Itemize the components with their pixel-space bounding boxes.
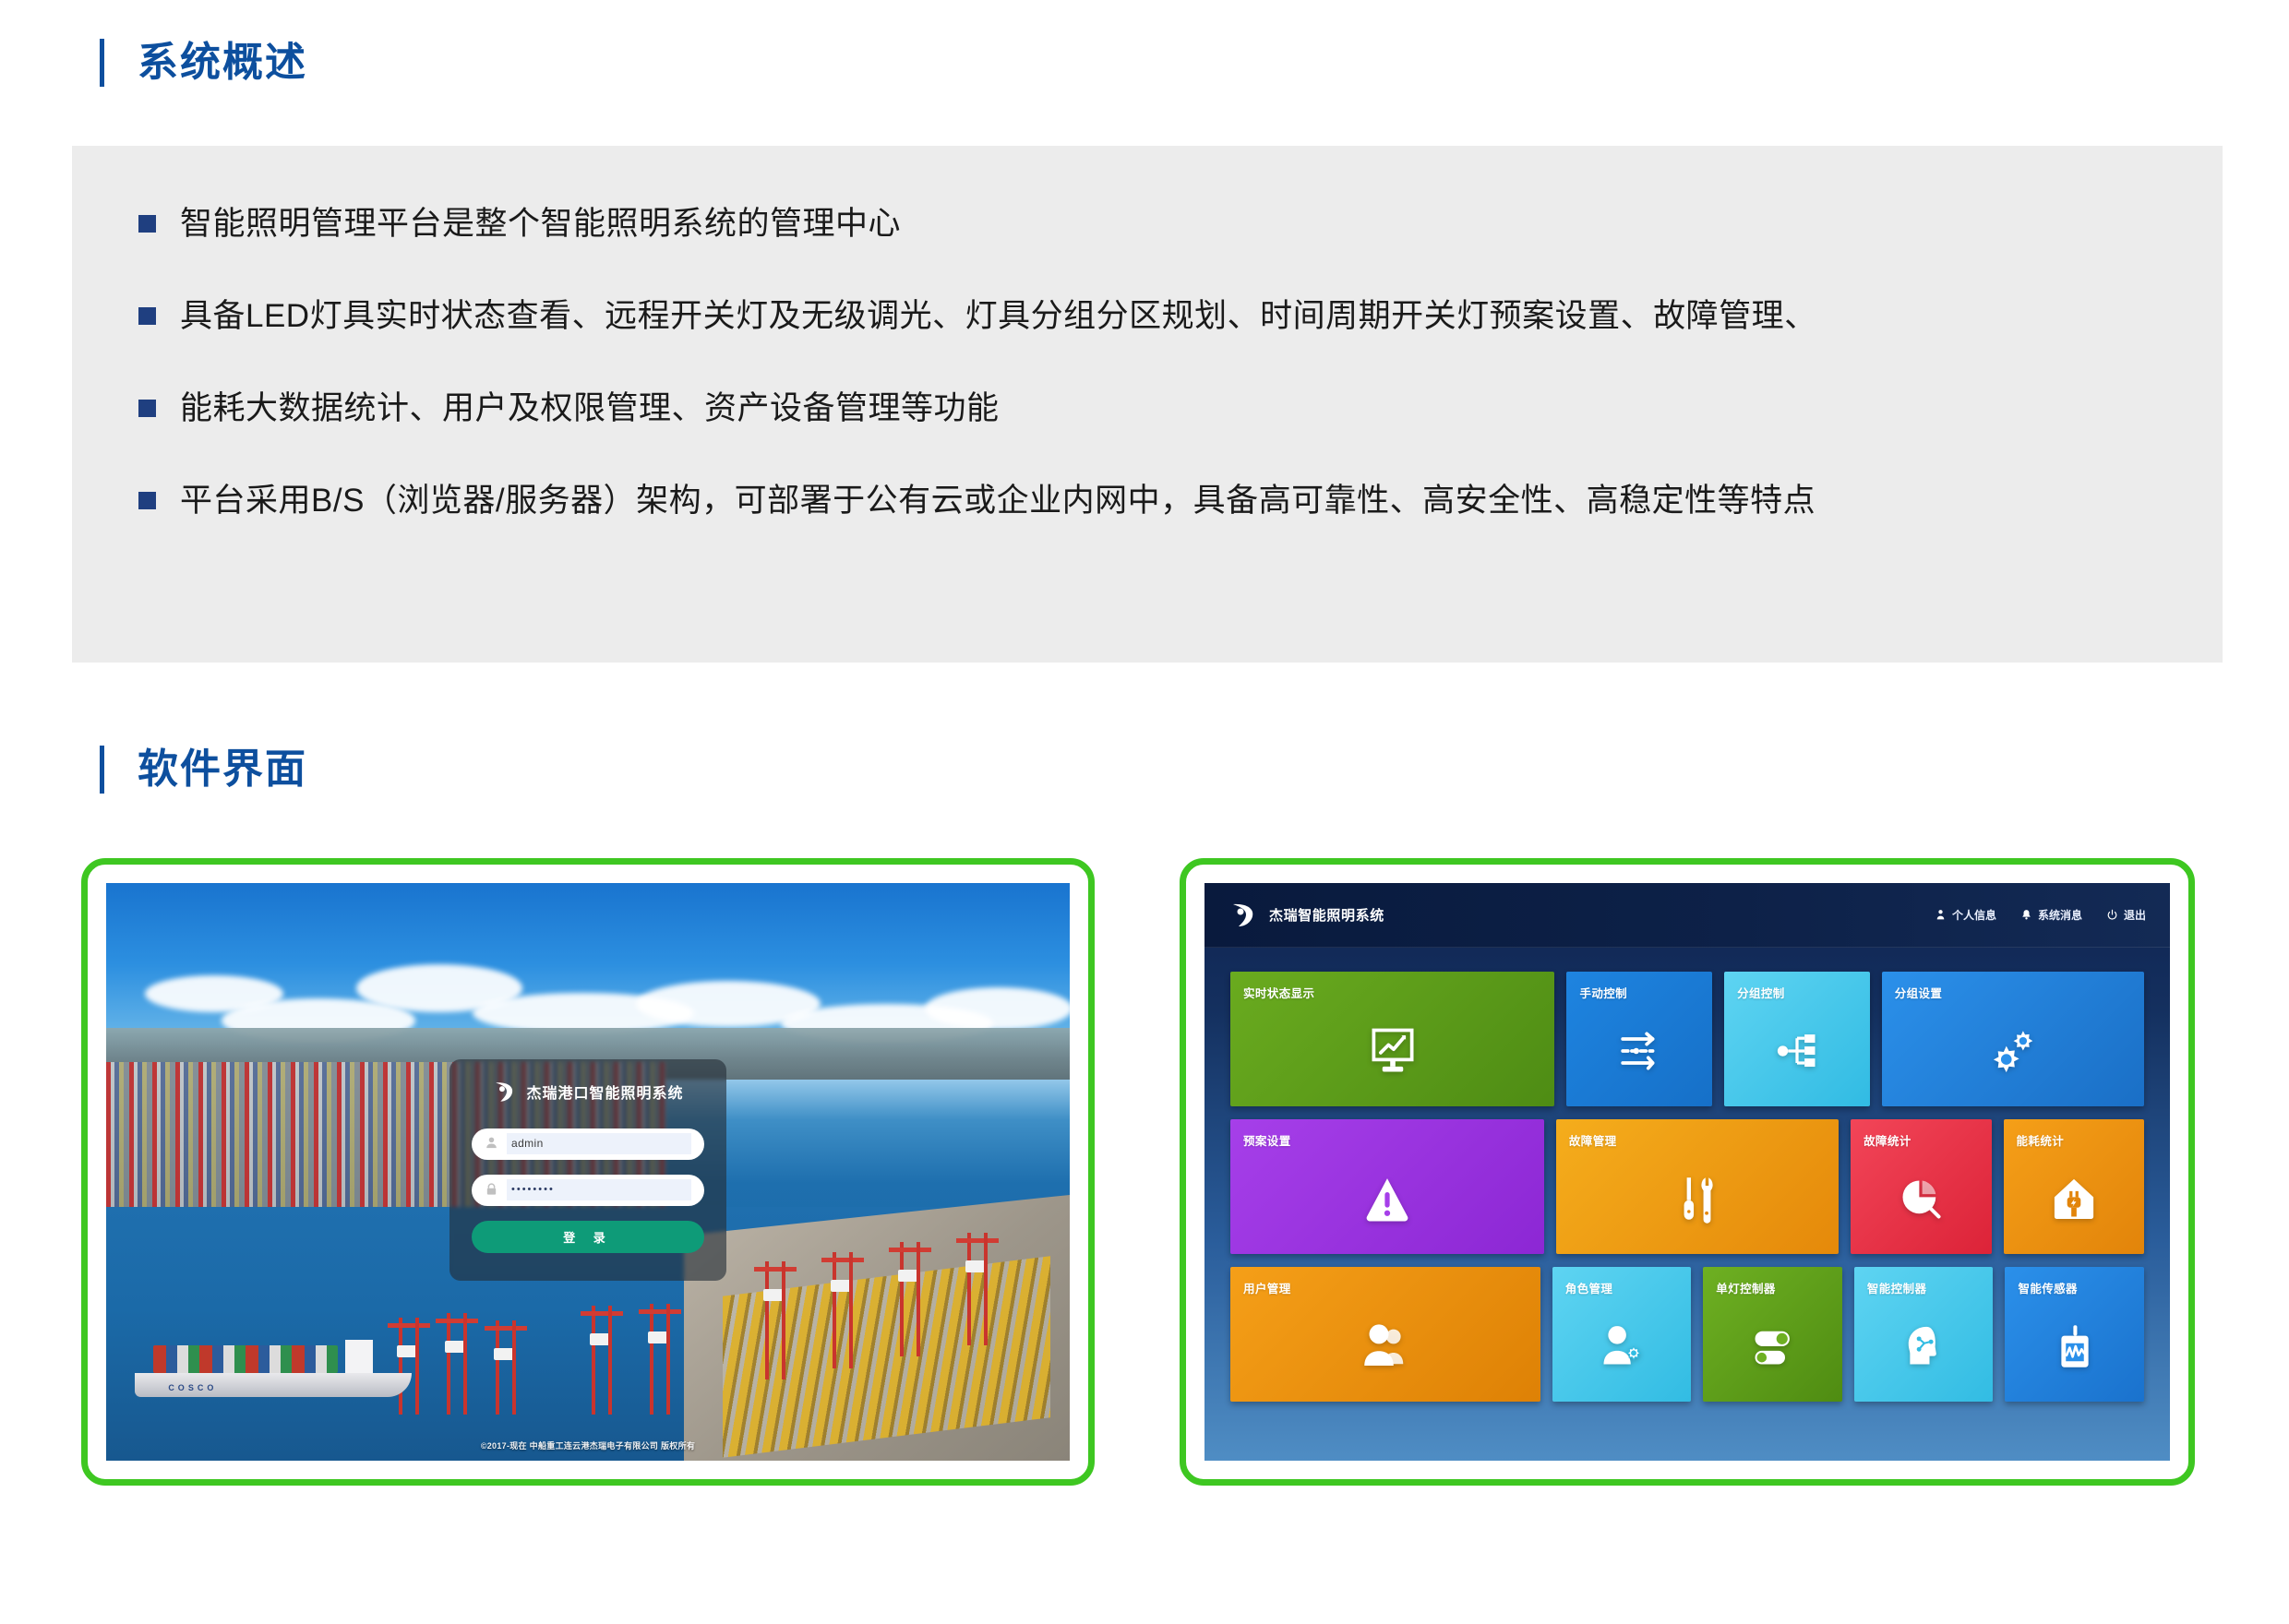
tools-icon [1556,1149,1839,1254]
bullet-list: 智能照明管理平台是整个智能照明系统的管理中心 具备LED灯具实时状态查看、远程开… [138,197,2195,528]
nav-item-messages[interactable]: 系统消息 [2020,907,2082,923]
tile-label: 分组控制 [1724,972,1870,1001]
tile-label: 故障管理 [1556,1119,1839,1149]
section-heading-overview: 系统概述 [100,39,307,87]
tile-label: 能耗统计 [2004,1119,2144,1149]
monitor-chart-icon [1230,1001,1554,1106]
slide-page: 系统概述 智能照明管理平台是整个智能照明系统的管理中心 具备LED灯具实时状态查… [0,0,2289,1624]
nav-item-profile[interactable]: 个人信息 [1935,907,1996,923]
app-brand: 杰瑞智能照明系统 [1228,901,1384,930]
tile-label: 智能控制器 [1854,1267,1994,1296]
login-screenshot-frame: COSCO 杰瑞港口智能照明系统 [81,858,1095,1486]
tile-single-lamp-controller[interactable]: 单灯控制器 [1703,1267,1842,1402]
tile-group-control[interactable]: 分组控制 [1724,972,1870,1106]
app-title: 杰瑞智能照明系统 [1269,905,1384,925]
jerry-logo-icon [1228,901,1258,930]
power-icon [2106,909,2118,922]
bullet-text: 智能照明管理平台是整个智能照明系统的管理中心 [180,197,901,251]
tile-fault-statistics[interactable]: 故障统计 [1851,1119,1991,1254]
login-button[interactable]: 登 录 [472,1221,704,1253]
user-icon [485,1136,498,1152]
jerry-logo-icon [492,1080,517,1105]
heading-accent-bar [100,39,104,87]
section-title: 软件界面 [138,749,307,790]
pie-search-icon [1851,1149,1991,1254]
container-ship: COSCO [135,1340,412,1397]
page-title: 系统概述 [138,42,307,83]
nav-label: 系统消息 [2038,907,2082,923]
bullet-square-icon [138,215,156,233]
bell-icon [2020,909,2032,922]
bullet-text: 平台采用B/S（浏览器/服务器）架构，可部署于公有云或企业内网中，具备高可靠性、… [180,474,1816,528]
tile-label: 角色管理 [1552,1267,1692,1296]
users-icon [1230,1296,1540,1402]
tile-label: 智能传感器 [2005,1267,2144,1296]
list-item: 智能照明管理平台是整个智能照明系统的管理中心 [138,197,2195,251]
tile-row: 用户管理 角色管理 [1230,1267,2144,1402]
house-plug-icon [2004,1149,2144,1254]
login-card: 杰瑞港口智能照明系统 admin •••••••• [449,1059,726,1281]
tile-manual-control[interactable]: 手动控制 [1566,972,1712,1106]
tile-row: 实时状态显示 [1230,972,2144,1106]
lock-icon [485,1182,498,1198]
port-photo-background: COSCO 杰瑞港口智能照明系统 [106,883,1070,1461]
tile-label: 实时状态显示 [1230,972,1554,1001]
bullet-square-icon [138,492,156,509]
user-icon [1935,909,1947,922]
password-value: •••••••• [507,1179,691,1200]
toggles-icon [1703,1296,1842,1402]
tile-grid: 实时状态显示 [1204,948,2170,1422]
nav-item-logout[interactable]: 退出 [2106,907,2146,923]
head-circuit-icon [1854,1296,1994,1402]
bullet-text: 能耗大数据统计、用户及权限管理、资产设备管理等功能 [180,382,1000,436]
bullet-text: 具备LED灯具实时状态查看、远程开关灯及无级调光、灯具分组分区规划、时间周期开关… [180,290,1817,343]
gears-icon [1882,1001,2144,1106]
sensor-wave-icon [2005,1296,2144,1402]
tile-label: 手动控制 [1566,972,1712,1001]
password-field[interactable]: •••••••• [472,1175,704,1206]
dashboard-screenshot: 杰瑞智能照明系统 个人信息 系统 [1204,883,2170,1461]
list-item: 具备LED灯具实时状态查看、远程开关灯及无级调光、灯具分组分区规划、时间周期开关… [138,290,2195,343]
tile-smart-controller[interactable]: 智能控制器 [1854,1267,1994,1402]
tile-smart-sensor[interactable]: 智能传感器 [2005,1267,2144,1402]
tile-role-management[interactable]: 角色管理 [1552,1267,1692,1402]
list-item: 能耗大数据统计、用户及权限管理、资产设备管理等功能 [138,382,2195,436]
tile-plan-settings[interactable]: 预案设置 [1230,1119,1544,1254]
dashboard-screenshot-frame: 杰瑞智能照明系统 个人信息 系统 [1180,858,2195,1486]
header-nav: 个人信息 系统消息 退出 [1935,907,2146,923]
tile-label: 分组设置 [1882,972,2144,1001]
overview-panel: 智能照明管理平台是整个智能照明系统的管理中心 具备LED灯具实时状态查看、远程开… [72,146,2223,663]
warning-triangle-icon [1230,1149,1544,1254]
tile-group-settings[interactable]: 分组设置 [1882,972,2144,1106]
tile-user-management[interactable]: 用户管理 [1230,1267,1540,1402]
list-item: 平台采用B/S（浏览器/服务器）架构，可部署于公有云或企业内网中，具备高可靠性、… [138,474,2195,528]
bullet-square-icon [138,307,156,325]
login-title: 杰瑞港口智能照明系统 [526,1081,683,1103]
tile-label: 故障统计 [1851,1119,1991,1149]
nav-label: 个人信息 [1952,907,1996,923]
username-value: admin [507,1133,691,1154]
tile-label: 用户管理 [1230,1267,1540,1296]
copyright-text: ©2017-现在 中船重工连云港杰瑞电子有限公司 版权所有 [106,1439,1070,1451]
heading-accent-bar [100,746,104,794]
app-header: 杰瑞智能照明系统 个人信息 系统 [1204,883,2170,948]
bullet-square-icon [138,400,156,417]
tile-fault-management[interactable]: 故障管理 [1556,1119,1839,1254]
tile-label: 单灯控制器 [1703,1267,1842,1296]
tile-realtime-status[interactable]: 实时状态显示 [1230,972,1554,1106]
nav-label: 退出 [2124,907,2146,923]
login-brand: 杰瑞港口智能照明系统 [472,1080,704,1105]
tile-row: 预案设置 故障管理 [1230,1119,2144,1254]
tile-energy-statistics[interactable]: 能耗统计 [2004,1119,2144,1254]
dashboard-app: 杰瑞智能照明系统 个人信息 系统 [1204,883,2170,1461]
section-heading-software: 软件界面 [100,746,307,794]
tile-label: 预案设置 [1230,1119,1544,1149]
user-gear-icon [1552,1296,1692,1402]
login-screenshot: COSCO 杰瑞港口智能照明系统 [106,883,1070,1461]
username-field[interactable]: admin [472,1128,704,1160]
sliders-icon [1566,1001,1712,1106]
hierarchy-icon [1724,1001,1870,1106]
